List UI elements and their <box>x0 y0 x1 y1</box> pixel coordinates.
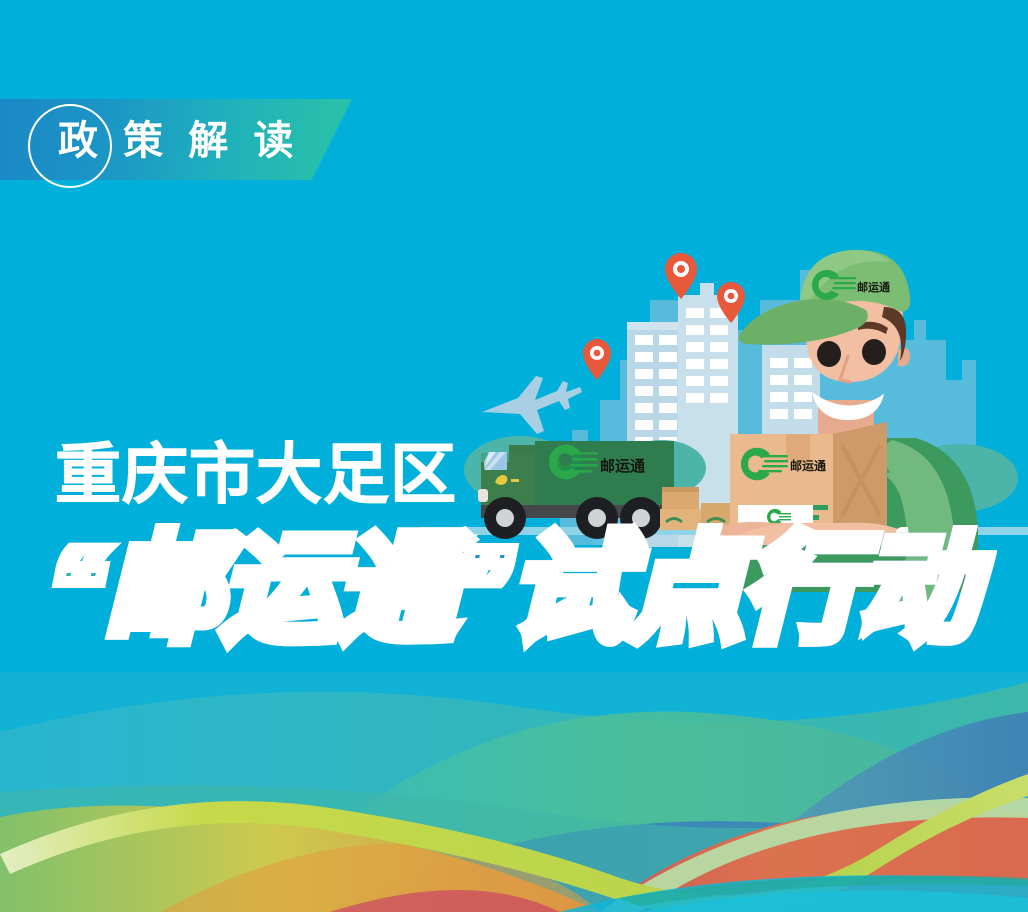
poster-root: 邮运通 <box>0 0 1028 912</box>
banner-label: 政 策 解 读 <box>58 112 300 170</box>
decorative-waves <box>0 672 1028 912</box>
sub-title: 重庆市大足区 <box>55 441 457 507</box>
main-title: “邮运通”试点行动 <box>48 531 974 649</box>
